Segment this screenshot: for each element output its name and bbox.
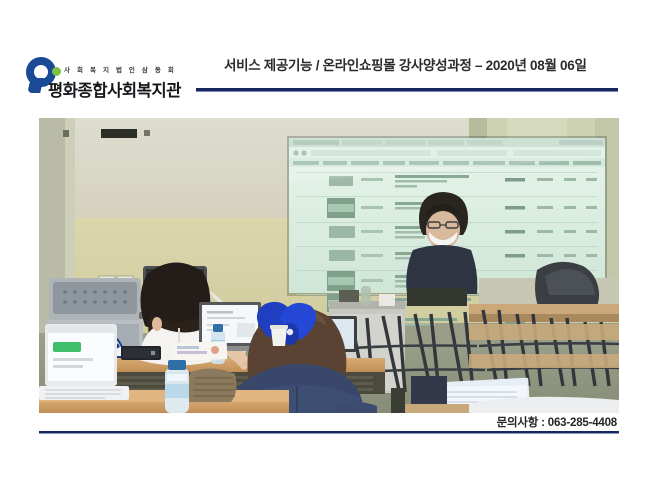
header-divider xyxy=(196,88,618,92)
page-title: 서비스 제공기능 / 온라인쇼핑몰 강사양성과정 – 2020년 08월 06일 xyxy=(224,54,587,74)
logo-tail-shape xyxy=(27,78,44,93)
logo-green-dot-icon xyxy=(52,67,61,76)
training-photo xyxy=(39,118,619,413)
presentation-slide: 사 회 복 지 법 인 삼 동 회 평화종합사회복지관 서비스 제공기능 / 온… xyxy=(0,0,650,500)
foreground-water-bottle xyxy=(165,360,189,413)
contact-info: 문의사항 : 063-285-4408 xyxy=(497,414,617,430)
footer-divider xyxy=(39,431,619,434)
photo-artwork xyxy=(39,118,619,413)
slide-header: 사 회 복 지 법 인 삼 동 회 평화종합사회복지관 서비스 제공기능 / 온… xyxy=(0,46,650,108)
foreground-laptop xyxy=(39,324,129,400)
logo-organization-name: 평화종합사회복지관 xyxy=(48,77,181,101)
logo-subtitle: 사 회 복 지 법 인 삼 동 회 xyxy=(64,64,176,74)
organization-logo: 사 회 복 지 법 인 삼 동 회 평화종합사회복지관 xyxy=(26,55,198,105)
